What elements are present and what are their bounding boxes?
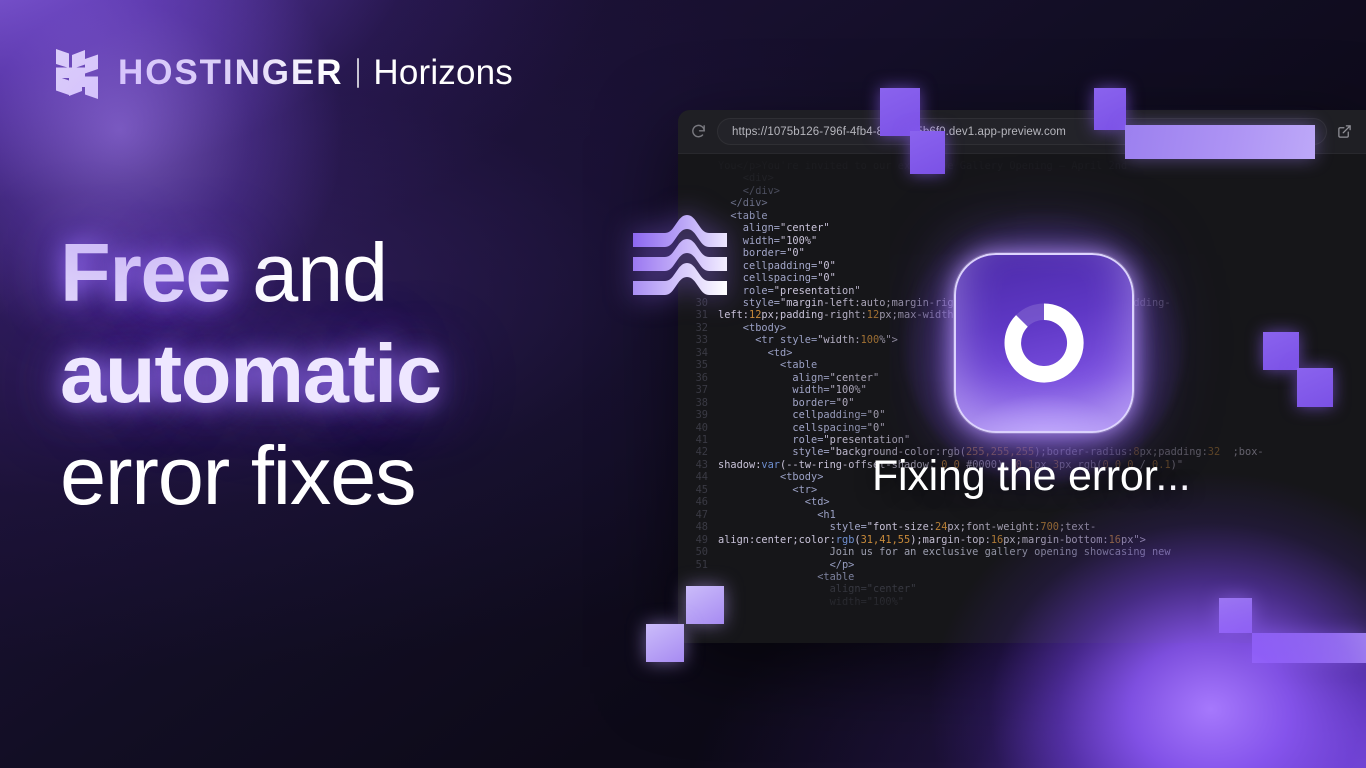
code-line-number: 37 (678, 384, 718, 396)
brand-logo: HOSTINGERHorizons (56, 47, 513, 99)
code-line-number: 41 (678, 434, 718, 446)
headline-word-automatic: automatic (60, 327, 441, 420)
code-line-text: border="0" (718, 247, 805, 259)
code-line-number: 44 (678, 471, 718, 483)
code-line-number: 49 (678, 534, 718, 546)
code-line-number: 45 (678, 484, 718, 496)
code-line-text: <tbody> (718, 471, 823, 483)
code-line-number: 43 (678, 459, 718, 471)
code-line: </div> (678, 197, 1366, 209)
code-line-number: 35 (678, 359, 718, 371)
code-line-text: <div> (718, 172, 774, 184)
code-line: You</p>You're invited to our exclusive G… (678, 160, 1366, 172)
headline-word-free: Free (60, 226, 230, 319)
headline-line-3: error fixes (60, 425, 680, 526)
code-line-text: <td> (718, 347, 792, 359)
code-line-text: <h1 (718, 509, 836, 521)
reload-icon[interactable] (690, 123, 707, 140)
headline-line-1: Free and (60, 222, 680, 323)
code-line-text: </div> (718, 185, 780, 197)
code-line: 50 Join us for an exclusive gallery open… (678, 546, 1366, 558)
code-line-text: width="100%" (718, 596, 904, 608)
code-line: <div> (678, 172, 1366, 184)
code-line-text: </div> (718, 197, 768, 209)
code-line-number: 51 (678, 559, 718, 571)
code-line-number: 34 (678, 347, 718, 359)
square-bottom-right-1 (1219, 598, 1252, 633)
code-line: 51 </p> (678, 559, 1366, 571)
code-line: align="center" (678, 222, 1366, 234)
page-headline: Free and automatic error fixes (60, 222, 680, 526)
code-line-number: 36 (678, 372, 718, 384)
code-line-number (678, 571, 718, 583)
code-line: align="center" (678, 583, 1366, 595)
code-line-number (678, 197, 718, 209)
code-line-number: 50 (678, 546, 718, 558)
code-line: 48 style="font-size:24px;font-weight:700… (678, 521, 1366, 533)
square-right-2 (1297, 368, 1333, 407)
code-line-text: align:center;color:rgb(31,41,55);margin-… (718, 534, 1146, 546)
square-bottom-left-1 (686, 586, 724, 624)
code-line-text: <tr> (718, 484, 817, 496)
product-name: Horizons (373, 53, 513, 92)
bar-top-right (1125, 125, 1315, 159)
code-line-text: <tr style="width:100%"> (718, 334, 898, 346)
code-line-text: Join us for an exclusive gallery opening… (718, 546, 1171, 558)
code-line-text: cellspacing="0" (718, 272, 836, 284)
code-line-text: width="100%" (718, 384, 867, 396)
code-line: 41 role="presentation" (678, 434, 1366, 446)
brand-wordmark: HOSTINGERHorizons (118, 53, 513, 93)
code-line-text: role="presentation" (718, 285, 861, 297)
code-line-text: align="center" (718, 222, 830, 234)
code-line-number: 32 (678, 322, 718, 334)
bar-bottom-right (1252, 633, 1366, 663)
code-line-text: role="presentation" (718, 434, 910, 446)
code-line: <table (678, 571, 1366, 583)
code-line-text: cellpadding="0" (718, 409, 885, 421)
square-top-3 (1094, 88, 1126, 130)
code-line-text: <tbody> (718, 322, 786, 334)
code-line-text: </p> (718, 559, 854, 571)
code-line-number (678, 185, 718, 197)
loading-spinner-icon (998, 297, 1090, 389)
code-line-number: 39 (678, 409, 718, 421)
code-line-number (678, 172, 718, 184)
code-line-number: 31 (678, 309, 718, 321)
code-line: </div> (678, 185, 1366, 197)
code-line: <table (678, 210, 1366, 222)
code-line: width="100%" (678, 235, 1366, 247)
code-line-number (678, 160, 718, 172)
code-line-number: 48 (678, 521, 718, 533)
code-line: width="100%" (678, 596, 1366, 608)
code-line-text: <table (718, 359, 817, 371)
code-line-number: 47 (678, 509, 718, 521)
hostinger-h-logo-icon (56, 47, 98, 99)
square-bottom-left-2 (646, 624, 684, 662)
external-link-icon[interactable] (1337, 124, 1352, 139)
code-line-number: 38 (678, 397, 718, 409)
code-line-text: border="0" (718, 397, 854, 409)
code-line-text: style="font-size:24px;font-weight:700;te… (718, 521, 1096, 533)
brand-name: HOSTINGER (118, 53, 343, 92)
code-line-text: width="100%" (718, 235, 817, 247)
headline-word-and: and (230, 226, 387, 319)
code-line: 47 <h1 (678, 509, 1366, 521)
loading-indicator (954, 253, 1134, 433)
square-top-2 (910, 131, 945, 174)
code-line-number: 42 (678, 446, 718, 458)
code-line-number: 40 (678, 422, 718, 434)
code-line-number: 33 (678, 334, 718, 346)
code-line-text: cellpadding="0" (718, 260, 836, 272)
status-caption: Fixing the error... (872, 452, 1191, 501)
code-line-text: <table (718, 571, 854, 583)
headline-words-error-fixes: error fixes (60, 429, 415, 522)
code-line-text: align="center" (718, 583, 916, 595)
code-line-number: 46 (678, 496, 718, 508)
brand-divider (357, 58, 359, 88)
promo-banner: HOSTINGERHorizons Free and automatic err… (0, 0, 1366, 768)
code-line-text: cellspacing="0" (718, 422, 885, 434)
code-line: 49align:center;color:rgb(31,41,55);margi… (678, 534, 1366, 546)
code-line-text: align="center" (718, 372, 879, 384)
square-right-1 (1263, 332, 1299, 370)
headline-line-2: automatic (60, 323, 680, 424)
spinner-card (954, 253, 1134, 433)
square-top-1 (880, 88, 920, 136)
code-line-text: <td> (718, 496, 830, 508)
wave-lines-icon (631, 209, 729, 305)
